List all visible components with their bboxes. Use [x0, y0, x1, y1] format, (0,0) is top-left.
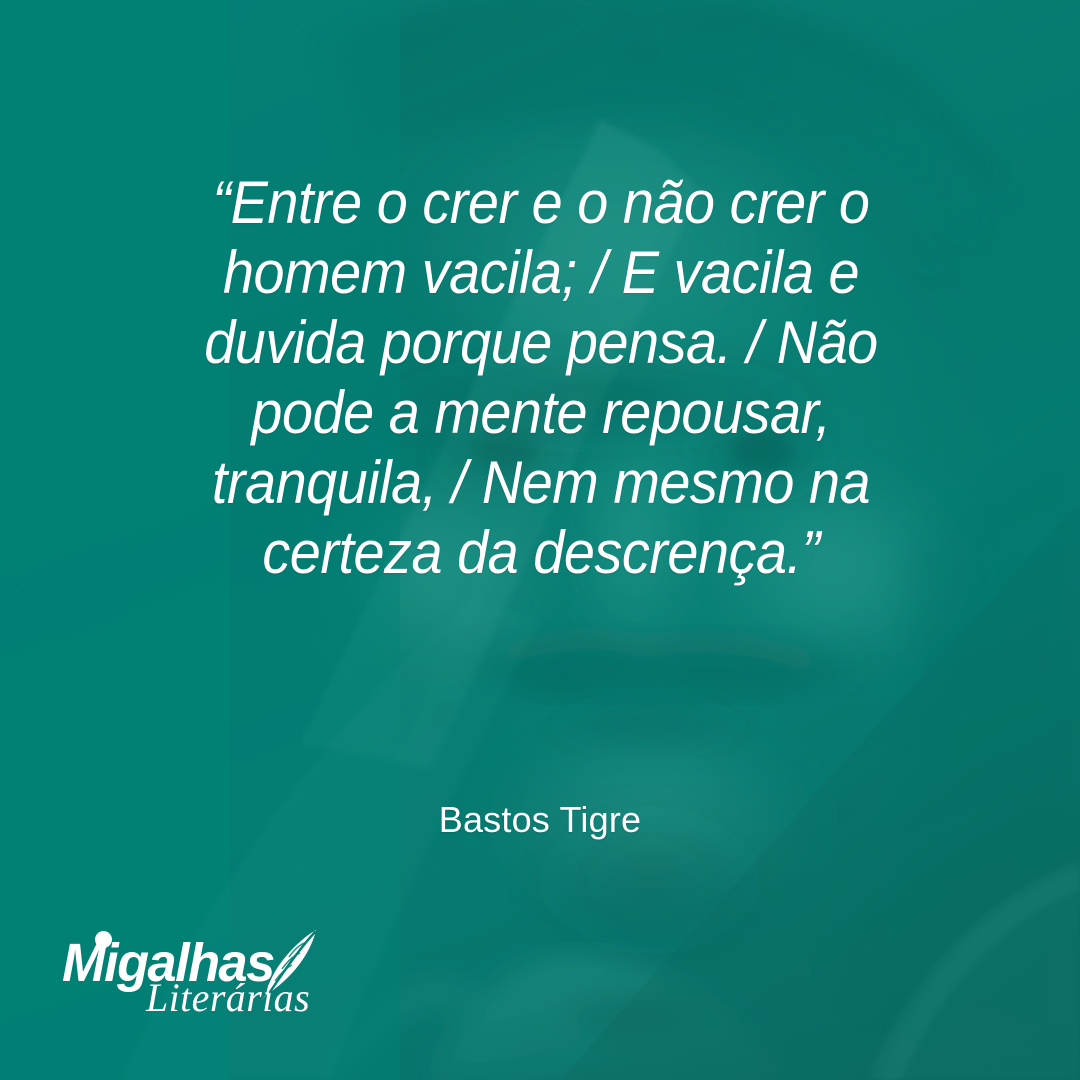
quote-text: “Entre o crer e o não crer o homem vacil… [108, 168, 974, 588]
migalhas-literarias-logo[interactable]: Migalhas Literárias [62, 928, 322, 1020]
quote-line-1: “Entre o crer e o não crer o [138, 168, 943, 238]
i-dot-icon [95, 931, 112, 948]
card-content: “Entre o crer e o não crer o homem vacil… [0, 0, 1080, 1080]
quill-svg [258, 928, 322, 1002]
quote-line-2: homem vacila; / E vacila e [138, 238, 943, 308]
quote-line-6: certeza da descrença.” [138, 518, 943, 588]
quote-line-4: pode a mente repousar, [138, 378, 943, 448]
quill-feather-icon [258, 928, 322, 1002]
quote-line-3: duvida porque pensa. / Não [138, 308, 943, 378]
quote-line-5: tranquila, / Nem mesmo na [138, 448, 943, 518]
quote-card: “Entre o crer e o não crer o homem vacil… [0, 0, 1080, 1080]
quote-author: Bastos Tigre [0, 799, 1080, 841]
